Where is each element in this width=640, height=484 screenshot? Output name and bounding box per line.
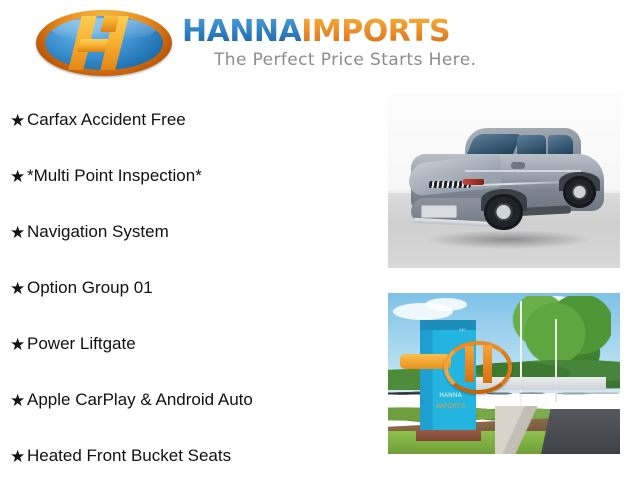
monument-sign-text-imports: IMPORTS [427, 404, 473, 410]
star-bullet-icon: ★ [10, 112, 27, 129]
list-item: ★ *Multi Point Inspection* [0, 148, 380, 204]
road [541, 409, 620, 454]
feature-label: *Multi Point Inspection* [27, 166, 202, 186]
vehicle-illustration [411, 126, 604, 235]
list-item: ★ Carfax Accident Free [0, 92, 380, 148]
monument-sign-base [416, 430, 481, 441]
monument-logo-h-icon [465, 346, 474, 381]
vehicle-photo[interactable] [388, 93, 620, 268]
star-bullet-icon: ★ [10, 168, 27, 185]
star-bullet-icon: ★ [10, 280, 27, 297]
star-bullet-icon: ★ [10, 336, 27, 353]
logo-monogram-h [45, 16, 163, 70]
address-number: 240 [448, 327, 476, 335]
listing-flyer: HANNAIMPORTS The Perfect Price Starts He… [0, 0, 640, 480]
dealership-photo[interactable]: 240 HANNA IMPORTS [388, 293, 620, 454]
feature-label: Heated Front Bucket Seats [27, 446, 231, 466]
monument-logo-ring-icon [444, 341, 512, 394]
feature-label: Carfax Accident Free [27, 110, 186, 130]
cloud [425, 298, 467, 311]
wordmark-imports: IMPORTS [301, 14, 450, 49]
hanna-oval-h-logo-icon [36, 10, 172, 76]
list-item: ★ Apple CarPlay & Android Auto [0, 372, 380, 428]
feature-label: Navigation System [27, 222, 169, 242]
star-bullet-icon: ★ [10, 392, 27, 409]
dealer-wordmark: HANNAIMPORTS [182, 14, 512, 50]
star-bullet-icon: ★ [10, 224, 27, 241]
vehicle-feature-list: ★ Carfax Accident Free ★ *Multi Point In… [0, 92, 380, 484]
list-item: ★ Heated Front Bucket Seats [0, 428, 380, 484]
list-item: ★ Navigation System [0, 204, 380, 260]
feature-label: Apple CarPlay & Android Auto [27, 390, 253, 410]
list-item: ★ Option Group 01 [0, 260, 380, 316]
monument-sign-arm [400, 354, 451, 368]
monument-logo-h-icon [483, 345, 492, 384]
feature-label: Option Group 01 [27, 278, 153, 298]
wordmark-hanna: HANNA [182, 14, 301, 49]
list-item: ★ Power Liftgate [0, 316, 380, 372]
monument-sign-text-hanna: HANNA [427, 393, 473, 399]
dealer-tagline: The Perfect Price Starts Here. [214, 50, 514, 70]
feature-label: Power Liftgate [27, 334, 136, 354]
dealer-header: HANNAIMPORTS The Perfect Price Starts He… [0, 0, 640, 88]
star-bullet-icon: ★ [10, 448, 27, 465]
